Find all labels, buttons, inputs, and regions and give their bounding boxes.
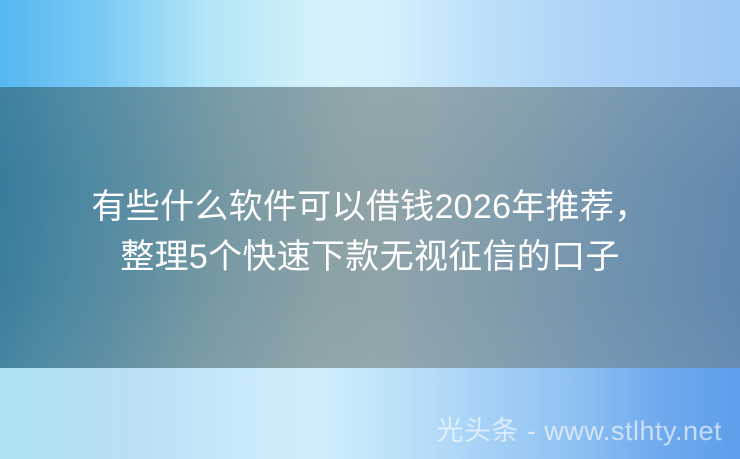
page-title-line-2: 整理5个快速下款无视征信的口子	[0, 232, 740, 282]
page-title: 有些什么软件可以借钱2026年推荐， 整理5个快速下款无视征信的口子	[0, 182, 740, 282]
watermark: 光头条 - www.stlhty.net	[436, 415, 722, 447]
background-top-band	[0, 0, 740, 87]
article-title-card: 有些什么软件可以借钱2026年推荐， 整理5个快速下款无视征信的口子 光头条 -…	[0, 0, 740, 459]
page-title-line-1: 有些什么软件可以借钱2026年推荐，	[0, 182, 740, 232]
